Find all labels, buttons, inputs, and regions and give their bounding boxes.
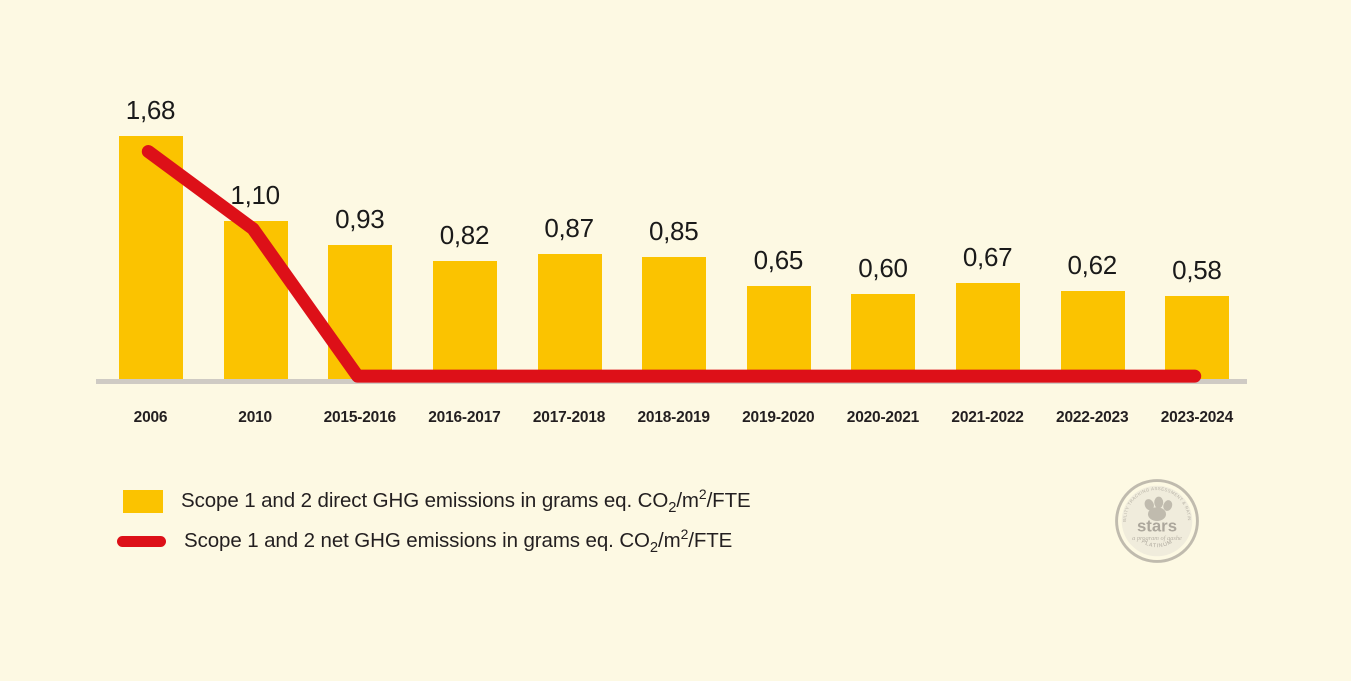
bar [747, 286, 811, 381]
legend-item-direct: Scope 1 and 2 direct GHG emissions in gr… [117, 484, 751, 518]
bar-column: 0,60 [828, 0, 937, 440]
bar-value-label: 0,60 [828, 253, 937, 284]
bar-value-label: 0,67 [933, 242, 1042, 273]
seal-tagline-text: a program of aashe [1132, 535, 1182, 542]
legend-label-direct: Scope 1 and 2 direct GHG emissions in gr… [181, 486, 751, 516]
bar-column: 0,82 [410, 0, 519, 440]
bar [956, 283, 1020, 381]
bar [433, 261, 497, 381]
x-axis-label: 2019-2020 [724, 409, 833, 427]
bar-value-label: 0,65 [724, 245, 833, 276]
x-axis-label: 2017-2018 [515, 409, 624, 427]
bar-value-label: 0,58 [1142, 255, 1251, 286]
bar [851, 294, 915, 382]
bar-value-label: 0,82 [410, 220, 519, 251]
bar-column: 0,85 [619, 0, 728, 440]
bar-column: 0,67 [933, 0, 1042, 440]
bar-column: 1,10 [201, 0, 310, 440]
bar-column: 1,68 [96, 0, 205, 440]
legend-item-net: Scope 1 and 2 net GHG emissions in grams… [117, 524, 732, 558]
stars-platinum-seal-icon: stars a program of aashe SUSTAINABILITY … [1114, 478, 1200, 564]
bar [224, 221, 288, 381]
x-axis-label: 2006 [96, 409, 205, 427]
bar-value-label: 1,10 [201, 180, 310, 211]
bar [119, 136, 183, 381]
x-axis-label: 2018-2019 [619, 409, 728, 427]
x-axis-label: 2020-2021 [828, 409, 937, 427]
legend-label-net: Scope 1 and 2 net GHG emissions in grams… [184, 526, 732, 556]
line-swatch-icon [117, 536, 166, 547]
bar-column: 0,87 [515, 0, 624, 440]
bar-column: 0,58 [1142, 0, 1251, 440]
bar-column: 0,65 [724, 0, 833, 440]
plot-area: 1,681,100,930,820,870,850,650,600,670,62… [0, 0, 1351, 440]
x-axis-label: 2010 [201, 409, 310, 427]
x-axis-label: 2016-2017 [410, 409, 519, 427]
bar [538, 254, 602, 381]
x-axis-label: 2022-2023 [1038, 409, 1147, 427]
bar-column: 0,93 [305, 0, 414, 440]
seal-main-text: stars [1137, 516, 1177, 535]
bar-value-label: 0,93 [305, 204, 414, 235]
bar [1165, 296, 1229, 381]
x-axis-labels: 200620102015-20162016-20172017-20182018-… [0, 409, 1351, 439]
bar-value-label: 0,87 [515, 213, 624, 244]
axis-baseline [96, 379, 1247, 384]
bar-column: 0,62 [1038, 0, 1147, 440]
ghg-emissions-chart: 1,681,100,930,820,870,850,650,600,670,62… [0, 0, 1351, 681]
bar-value-label: 1,68 [96, 95, 205, 126]
x-axis-label: 2023-2024 [1142, 409, 1251, 427]
x-axis-label: 2021-2022 [933, 409, 1042, 427]
bar-value-label: 0,62 [1038, 250, 1147, 281]
bar [642, 257, 706, 381]
bar-value-label: 0,85 [619, 216, 728, 247]
x-axis-label: 2015-2016 [305, 409, 414, 427]
bar [1061, 291, 1125, 381]
bar [328, 245, 392, 381]
bar-swatch-icon [123, 490, 163, 513]
